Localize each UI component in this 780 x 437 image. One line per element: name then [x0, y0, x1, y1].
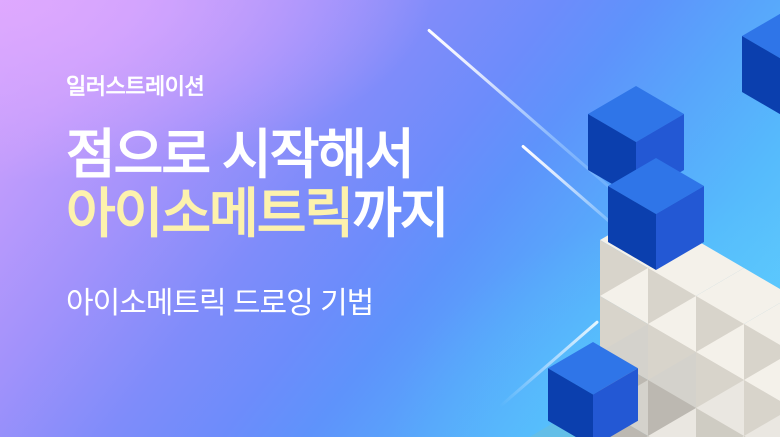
cube-top-right-cropped — [742, 8, 780, 120]
cream-cube-r2-c3 — [744, 408, 780, 437]
banner-copy: 일러스트레이션 점으로 시작해서 아이소메트릭까지 아이소메트릭 드로잉 기법 — [66, 76, 536, 319]
banner-canvas: 일러스트레이션 점으로 시작해서 아이소메트릭까지 아이소메트릭 드로잉 기법 — [0, 0, 780, 437]
title-line-1: 점으로 시작해서 — [66, 126, 536, 185]
cube-face-top — [744, 408, 780, 437]
cube-floating-lower — [608, 158, 704, 270]
title-line-2: 아이소메트릭까지 — [66, 185, 536, 244]
title-suffix: 까지 — [352, 184, 447, 244]
cube-floating-bottom — [548, 342, 638, 437]
eyebrow-label: 일러스트레이션 — [66, 76, 536, 98]
page-title: 점으로 시작해서 아이소메트릭까지 — [66, 126, 536, 245]
title-highlight: 아이소메트릭 — [66, 184, 352, 244]
subtitle: 아이소메트릭 드로잉 기법 — [66, 289, 536, 319]
